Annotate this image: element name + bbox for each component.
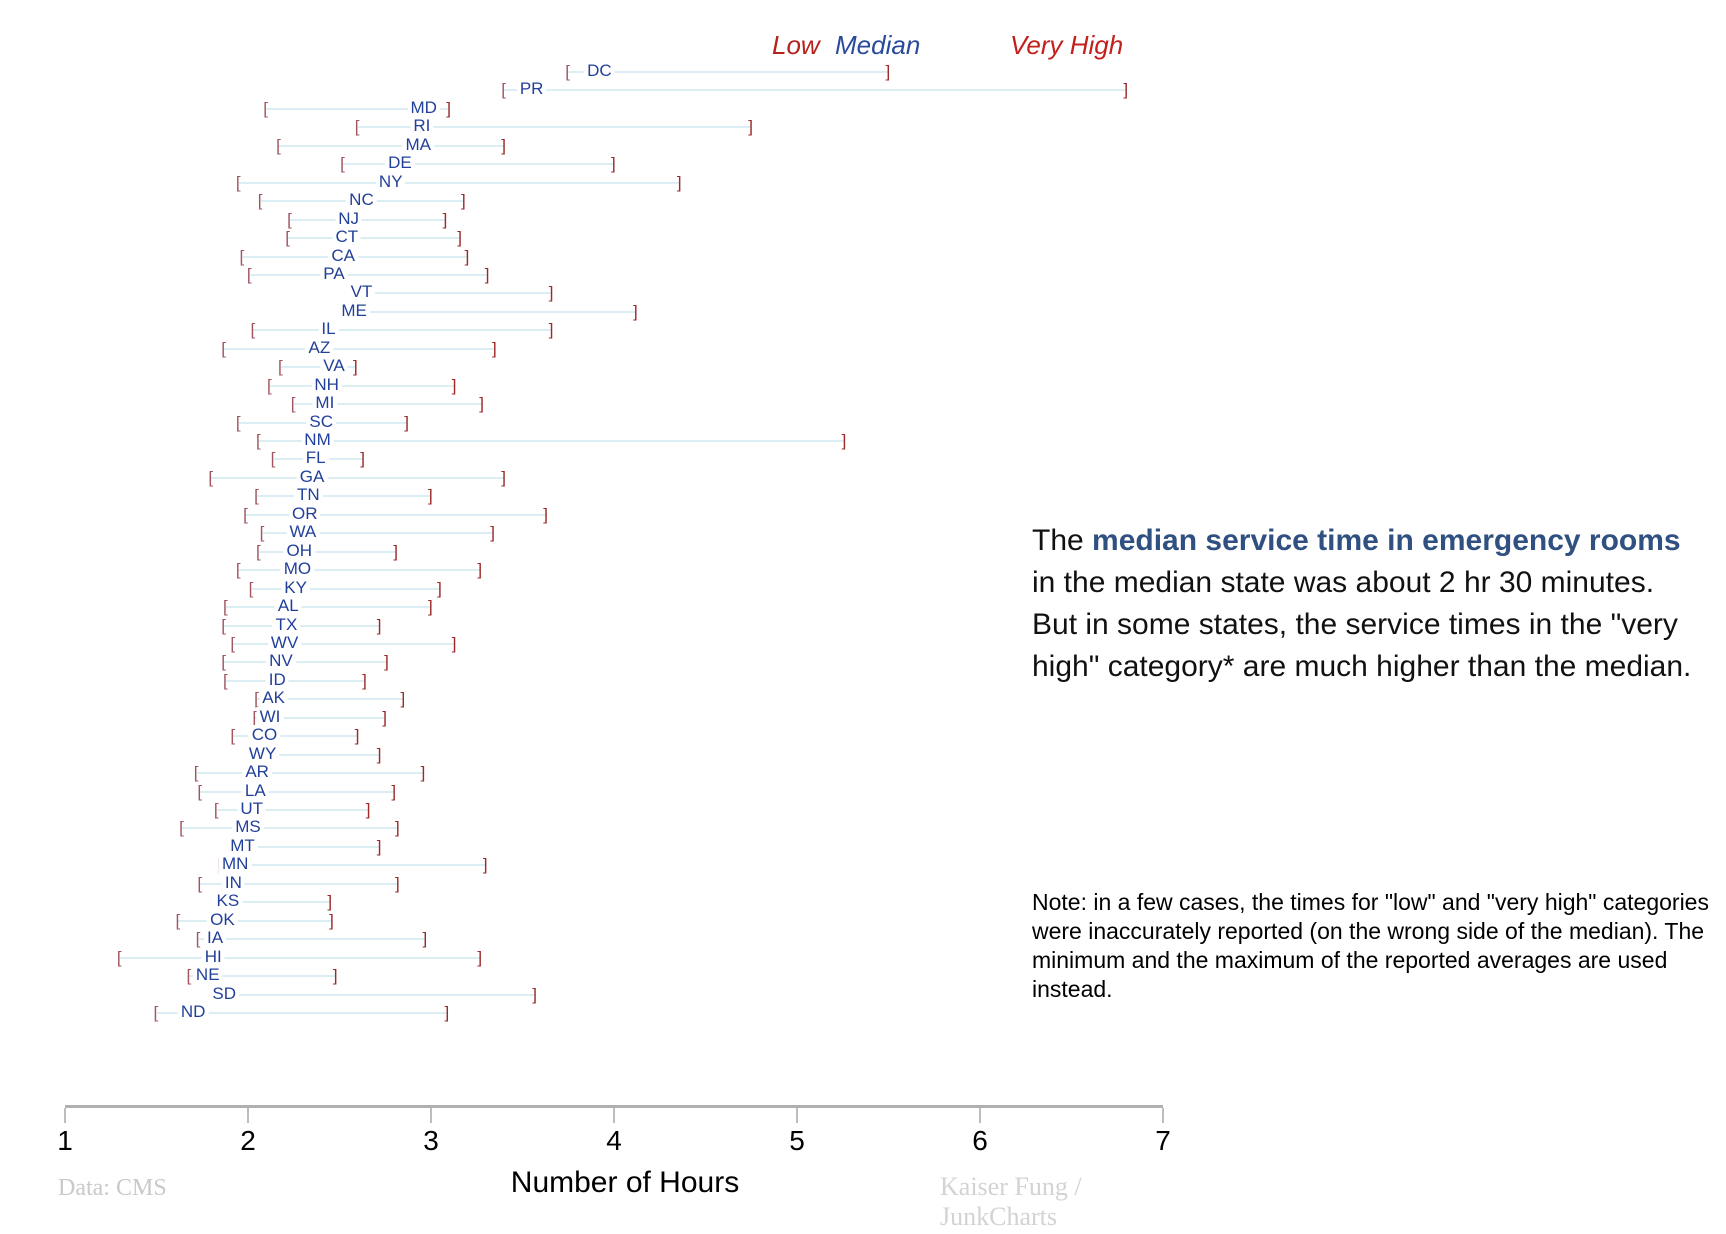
state-median-label: SD	[209, 984, 239, 1004]
state-median-label: CT	[332, 227, 361, 247]
annotation-line1-a: The	[1032, 524, 1092, 557]
state-median-label: VA	[320, 356, 347, 376]
low-bracket: [	[501, 81, 506, 99]
low-bracket: [	[230, 635, 235, 653]
low-bracket: [	[230, 727, 235, 745]
state-median-label: NJ	[335, 209, 362, 229]
low-bracket: [	[267, 377, 272, 395]
range-line	[221, 864, 486, 866]
range-line	[252, 588, 440, 590]
state-median-label: KS	[214, 891, 243, 911]
range-row: []HI	[0, 948, 1200, 968]
low-bracket: [	[196, 930, 201, 948]
very-high-bracket: ]	[377, 838, 382, 856]
axis-tick-label: 1	[57, 1125, 73, 1157]
range-row: []KY	[0, 579, 1200, 599]
author-credit: Kaiser Fung / JunkCharts	[940, 1172, 1200, 1232]
range-row: []FL	[0, 449, 1200, 469]
range-row: []KS	[0, 892, 1200, 912]
very-high-bracket: ]	[360, 450, 365, 468]
range-row: []AL	[0, 597, 1200, 617]
state-median-label: CO	[249, 725, 281, 745]
very-high-bracket: ]	[490, 524, 495, 542]
state-median-label: MA	[402, 135, 434, 155]
state-median-label: WV	[268, 633, 301, 653]
very-high-bracket: ]	[452, 377, 457, 395]
range-row: []NV	[0, 652, 1200, 672]
very-high-bracket: ]	[485, 266, 490, 284]
low-bracket: [	[223, 598, 228, 616]
low-bracket: [	[254, 487, 259, 505]
range-row: []CT	[0, 228, 1200, 248]
state-median-label: OK	[207, 910, 238, 930]
very-high-bracket: ]	[532, 986, 537, 1004]
range-row: []MO	[0, 560, 1200, 580]
very-high-bracket: ]	[437, 580, 442, 598]
axis-tick-label: 6	[972, 1125, 988, 1157]
range-row: []CA	[0, 247, 1200, 267]
axis-tick	[979, 1108, 981, 1123]
state-median-label: IN	[222, 873, 245, 893]
range-line	[253, 329, 551, 331]
very-high-bracket: ]	[355, 727, 360, 745]
state-median-label: AR	[242, 762, 272, 782]
range-row: []MI	[0, 394, 1200, 414]
very-high-bracket: ]	[501, 469, 506, 487]
range-row: []MD	[0, 99, 1200, 119]
state-median-label: GA	[297, 467, 328, 487]
range-row: []ME	[0, 302, 1200, 322]
very-high-bracket: ]	[677, 174, 682, 192]
low-bracket: [	[179, 819, 184, 837]
low-bracket: [	[249, 580, 254, 598]
low-bracket: [	[260, 524, 265, 542]
state-median-label: TN	[294, 485, 323, 505]
state-median-label: ID	[266, 670, 289, 690]
range-row: []VT	[0, 283, 1200, 303]
range-row: []WA	[0, 523, 1200, 543]
range-row: []DC	[0, 62, 1200, 82]
very-high-bracket: ]	[543, 506, 548, 524]
annotation-line2: But in some states, the service times in…	[1032, 608, 1691, 683]
range-line	[347, 311, 636, 313]
range-row: []GA	[0, 468, 1200, 488]
range-row: []NE	[0, 966, 1200, 986]
state-median-label: NH	[311, 375, 342, 395]
very-high-bracket: ]	[842, 432, 847, 450]
state-median-label: MD	[407, 98, 439, 118]
axis-tick	[613, 1108, 615, 1123]
very-high-bracket: ]	[492, 340, 497, 358]
very-high-bracket: ]	[428, 598, 433, 616]
state-median-label: VT	[348, 282, 376, 302]
low-bracket: [	[208, 469, 213, 487]
range-row: []WY	[0, 745, 1200, 765]
low-bracket: [	[250, 321, 255, 339]
very-high-bracket: ]	[395, 875, 400, 893]
state-median-label: HI	[202, 947, 225, 967]
state-median-label: OR	[289, 504, 321, 524]
state-median-label: AZ	[305, 338, 333, 358]
very-high-bracket: ]	[393, 543, 398, 561]
axis-tick	[796, 1108, 798, 1123]
low-bracket: [	[197, 783, 202, 801]
range-line	[233, 643, 454, 645]
very-high-bracket: ]	[382, 709, 387, 727]
state-median-label: RI	[410, 116, 433, 136]
very-high-bracket: ]	[395, 819, 400, 837]
state-median-label: UT	[237, 799, 266, 819]
very-high-bracket: ]	[748, 118, 753, 136]
range-row: []IA	[0, 929, 1200, 949]
range-line	[197, 772, 424, 774]
range-row: []MS	[0, 818, 1200, 838]
range-row: []ID	[0, 671, 1200, 691]
range-line	[259, 551, 396, 553]
x-axis: 1234567	[0, 1105, 1200, 1175]
range-row: []IL	[0, 320, 1200, 340]
chart-area: Low Median Very High []DC[]PR[]MD[]RI[]M…	[0, 0, 1200, 1234]
range-line	[120, 957, 481, 959]
state-median-label: ME	[338, 301, 370, 321]
state-median-label: TX	[273, 615, 301, 635]
range-line	[259, 440, 845, 442]
low-bracket: [	[276, 137, 281, 155]
state-median-label: PA	[320, 264, 347, 284]
range-row: []NC	[0, 191, 1200, 211]
axis-tick-label: 4	[606, 1125, 622, 1157]
range-row: []OR	[0, 505, 1200, 525]
low-bracket: [	[236, 174, 241, 192]
low-bracket: [	[258, 192, 263, 210]
very-high-bracket: ]	[549, 284, 554, 302]
range-line	[288, 237, 460, 239]
low-bracket: [	[565, 63, 570, 81]
range-line	[270, 385, 455, 387]
range-row: []NY	[0, 173, 1200, 193]
range-row: []MT	[0, 837, 1200, 857]
very-high-bracket: ]	[423, 930, 428, 948]
range-line	[257, 495, 431, 497]
range-row: []LA	[0, 782, 1200, 802]
low-bracket: [	[117, 949, 122, 967]
axis-tick-label: 5	[789, 1125, 805, 1157]
very-high-bracket: ]	[404, 414, 409, 432]
axis-tick	[247, 1108, 249, 1123]
note-text: Note: in a few cases, the times for "low…	[1032, 888, 1726, 1004]
very-high-bracket: ]	[401, 690, 406, 708]
low-bracket: [	[154, 1004, 159, 1022]
annotation-highlight: median service time in emergency rooms	[1092, 524, 1681, 557]
very-high-bracket: ]	[446, 100, 451, 118]
very-high-bracket: ]	[327, 893, 332, 911]
state-median-label: WI	[257, 707, 284, 727]
range-line	[239, 569, 481, 571]
range-row: []OK	[0, 911, 1200, 931]
state-median-label: AL	[275, 596, 302, 616]
range-line	[568, 71, 888, 73]
range-row: []VA	[0, 357, 1200, 377]
state-median-label: FL	[303, 448, 329, 468]
low-bracket: [	[243, 506, 248, 524]
very-high-bracket: ]	[461, 192, 466, 210]
state-median-label: IL	[318, 319, 338, 339]
axis-tick-label: 2	[240, 1125, 256, 1157]
very-high-bracket: ]	[465, 248, 470, 266]
range-line	[250, 274, 488, 276]
state-median-label: KY	[281, 578, 310, 598]
very-high-bracket: ]	[377, 617, 382, 635]
low-bracket: [	[278, 358, 283, 376]
low-bracket: [	[240, 248, 245, 266]
range-line	[279, 145, 504, 147]
range-row: []NH	[0, 376, 1200, 396]
very-high-bracket: ]	[886, 63, 891, 81]
state-median-label: NM	[301, 430, 333, 450]
range-line	[239, 182, 680, 184]
low-bracket: [	[256, 432, 261, 450]
axis-tick	[430, 1108, 432, 1123]
very-high-bracket: ]	[329, 912, 334, 930]
range-line	[226, 680, 365, 682]
range-line	[290, 219, 446, 221]
very-high-bracket: ]	[1123, 81, 1128, 99]
state-median-label: IA	[204, 928, 226, 948]
range-row: []AK	[0, 689, 1200, 709]
low-bracket: [	[175, 912, 180, 930]
state-median-label: NV	[266, 651, 296, 671]
range-line	[224, 625, 380, 627]
low-bracket: [	[221, 617, 226, 635]
range-line	[178, 920, 332, 922]
range-row: []MN	[0, 855, 1200, 875]
state-median-label: WY	[246, 744, 279, 764]
axis-title-text: Number of Hours	[511, 1166, 739, 1200]
very-high-bracket: ]	[452, 635, 457, 653]
very-high-bracket: ]	[611, 155, 616, 173]
range-row: []WI	[0, 708, 1200, 728]
range-row: []AZ	[0, 339, 1200, 359]
very-high-bracket: ]	[333, 967, 338, 985]
state-median-label: MI	[312, 393, 337, 413]
very-high-bracket: ]	[633, 303, 638, 321]
state-median-label: MS	[232, 817, 264, 837]
very-high-bracket: ]	[483, 856, 488, 874]
range-row: []ND	[0, 1003, 1200, 1023]
low-bracket: [	[197, 875, 202, 893]
legend-very-high-label: Very High	[1010, 30, 1123, 61]
state-median-label: MO	[281, 559, 314, 579]
low-bracket: [	[291, 395, 296, 413]
very-high-bracket: ]	[443, 211, 448, 229]
range-row: []NJ	[0, 210, 1200, 230]
state-median-label: LA	[242, 781, 269, 801]
range-row: []OH	[0, 542, 1200, 562]
very-high-bracket: ]	[377, 746, 382, 764]
very-high-bracket: ]	[501, 137, 506, 155]
state-median-label: DC	[584, 61, 615, 81]
low-bracket: [	[214, 801, 219, 819]
annotation-line1-b: in the median state was about 2 hr 30 mi…	[1032, 566, 1654, 599]
range-line	[504, 89, 1126, 91]
axis-tick-label: 3	[423, 1125, 439, 1157]
range-row: []PA	[0, 265, 1200, 285]
very-high-bracket: ]	[391, 783, 396, 801]
very-high-bracket: ]	[366, 801, 371, 819]
very-high-bracket: ]	[457, 229, 462, 247]
low-bracket: [	[271, 450, 276, 468]
range-line	[182, 827, 398, 829]
range-row: []TN	[0, 486, 1200, 506]
very-high-bracket: ]	[428, 487, 433, 505]
very-high-bracket: ]	[477, 561, 482, 579]
state-median-label: NY	[376, 172, 406, 192]
range-row: []DE	[0, 154, 1200, 174]
very-high-bracket: ]	[353, 358, 358, 376]
very-high-bracket: ]	[421, 764, 426, 782]
range-line	[343, 163, 614, 165]
range-row: []RI	[0, 117, 1200, 137]
range-row: []PR	[0, 80, 1200, 100]
low-bracket: [	[247, 266, 252, 284]
low-bracket: [	[254, 690, 259, 708]
range-row: []WV	[0, 634, 1200, 654]
low-bracket: [	[236, 414, 241, 432]
range-row: []MA	[0, 136, 1200, 156]
state-median-label: SC	[306, 412, 336, 432]
low-bracket: [	[285, 229, 290, 247]
state-median-label: PR	[517, 79, 547, 99]
range-row: []AR	[0, 763, 1200, 783]
legend-low-label: Low	[772, 30, 820, 61]
range-row: []TX	[0, 616, 1200, 636]
very-high-bracket: ]	[477, 949, 482, 967]
state-median-label: CA	[328, 246, 358, 266]
low-bracket: [	[186, 967, 191, 985]
very-high-bracket: ]	[549, 321, 554, 339]
range-row: []UT	[0, 800, 1200, 820]
state-median-label: MN	[219, 854, 251, 874]
low-bracket: [	[223, 672, 228, 690]
axis-tick	[64, 1108, 66, 1123]
range-line	[199, 938, 426, 940]
very-high-bracket: ]	[479, 395, 484, 413]
range-line	[224, 348, 495, 350]
state-median-label: AK	[259, 688, 288, 708]
data-credit: Data: CMS	[58, 1175, 167, 1202]
state-median-label: MT	[227, 836, 258, 856]
state-median-label: NE	[193, 965, 223, 985]
state-median-label: ND	[178, 1002, 209, 1022]
very-high-bracket: ]	[362, 672, 367, 690]
low-bracket: [	[340, 155, 345, 173]
axis-tick-label: 7	[1155, 1125, 1171, 1157]
very-high-bracket: ]	[444, 1004, 449, 1022]
range-row: []IN	[0, 874, 1200, 894]
range-line	[215, 994, 535, 996]
state-median-label: NC	[346, 190, 377, 210]
state-median-label: WA	[287, 522, 320, 542]
range-row: []NM	[0, 431, 1200, 451]
low-bracket: [	[221, 653, 226, 671]
low-bracket: [	[221, 340, 226, 358]
state-median-label: OH	[283, 541, 315, 561]
range-line	[200, 791, 394, 793]
low-bracket: [	[194, 764, 199, 782]
very-high-bracket: ]	[384, 653, 389, 671]
range-line	[211, 477, 504, 479]
low-bracket: [	[287, 211, 292, 229]
annotation-text: The median service time in emergency roo…	[1032, 520, 1712, 688]
axis-tick	[1162, 1108, 1164, 1123]
range-line	[226, 606, 431, 608]
range-row: []CO	[0, 726, 1200, 746]
state-median-label: DE	[385, 153, 415, 173]
legend-median-label: Median	[835, 30, 920, 61]
range-line	[350, 292, 551, 294]
low-bracket: [	[263, 100, 268, 118]
low-bracket: [	[256, 543, 261, 561]
low-bracket: [	[355, 118, 360, 136]
low-bracket: [	[236, 561, 241, 579]
range-row: []SC	[0, 413, 1200, 433]
range-line	[224, 661, 387, 663]
